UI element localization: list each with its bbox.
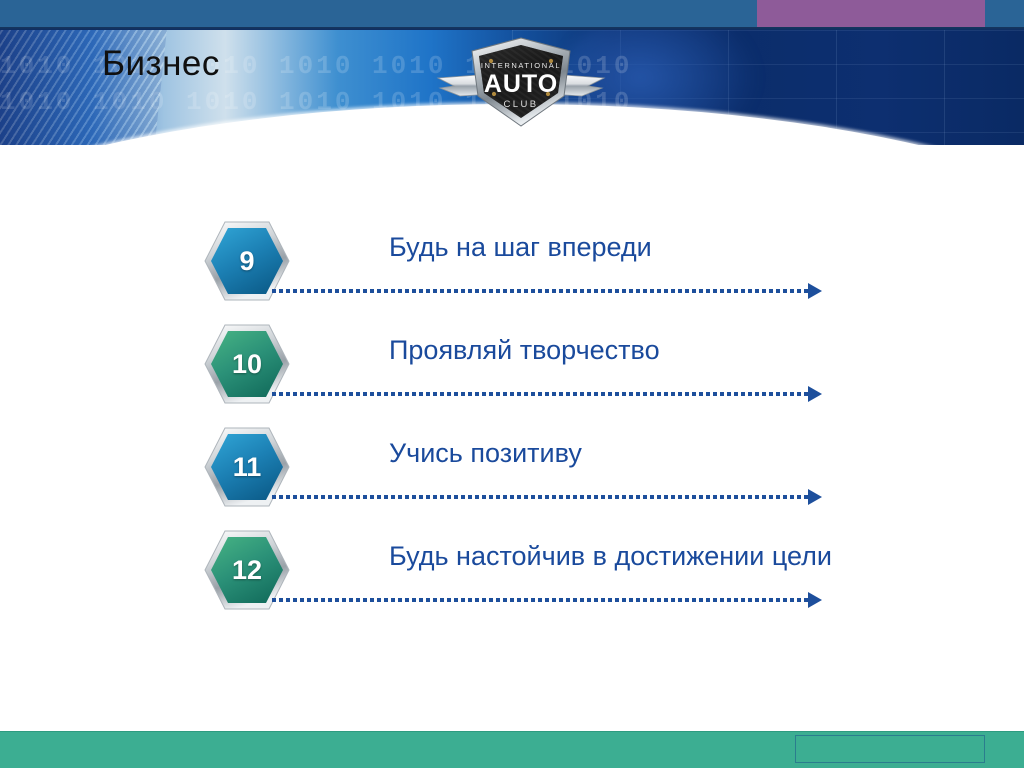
arrow-right-icon — [808, 386, 822, 402]
dotted-connector — [272, 289, 808, 293]
numbered-list: 9 Будь на шаг впереди — [0, 212, 1024, 624]
page-title: Бизнес — [102, 44, 220, 84]
list-item-text: Проявляй творчество — [389, 335, 660, 366]
footer-outlined-box — [795, 735, 985, 763]
list-item[interactable]: 12 Будь настойчив в достижении цели — [0, 521, 1024, 624]
dotted-connector — [272, 392, 808, 396]
logo-line-bottom: CLUB — [504, 99, 539, 110]
list-item-text: Будь на шаг впереди — [389, 232, 652, 263]
dotted-connector — [272, 598, 808, 602]
list-item[interactable]: 11 Учись позитиву — [0, 418, 1024, 521]
logo-line-top: INTERNATIONAL — [481, 61, 561, 70]
top-accent-purple-block — [757, 0, 985, 27]
list-item[interactable]: 9 Будь на шаг впереди — [0, 212, 1024, 315]
arrow-right-icon — [808, 283, 822, 299]
dotted-connector — [272, 495, 808, 499]
list-item[interactable]: 10 Проявляй творчество — [0, 315, 1024, 418]
arrow-right-icon — [808, 592, 822, 608]
list-item-text: Учись позитиву — [389, 438, 582, 469]
list-item-text: Будь настойчив в достижении цели — [389, 541, 832, 572]
international-auto-club-logo: INTERNATIONAL AUTO CLUB — [430, 34, 612, 130]
arrow-right-icon — [808, 489, 822, 505]
logo-line-main: AUTO — [484, 70, 558, 98]
